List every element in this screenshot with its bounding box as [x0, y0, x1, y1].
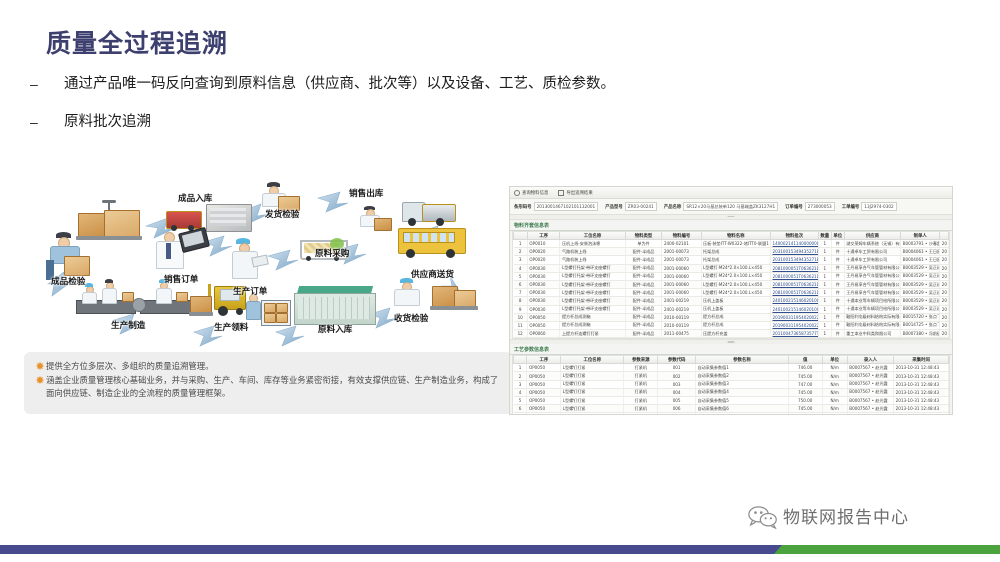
table-cell: 003	[658, 380, 696, 388]
table-cell: 压板·装垫ITT-W0322-堵ITT0-联盟1	[701, 240, 770, 248]
table-cell: 8	[514, 297, 528, 305]
cell-link[interactable]: 2081000051T063621D0	[772, 266, 818, 271]
table-cell: 750.00	[788, 397, 822, 405]
table-cell: 提方杆总成	[701, 313, 770, 321]
table-cell: L型螺钉托架·带环支座螺钉	[560, 272, 625, 280]
table-cell: 件	[831, 313, 844, 321]
table-cell: 压机上线-安装泡沫棉	[560, 240, 625, 248]
table-cell: OP0050	[527, 397, 561, 405]
table-cell: 2401002151460201004	[770, 305, 818, 313]
table-cell: 件	[831, 256, 844, 264]
table-cell: B0004061 • 王日昌	[901, 248, 940, 256]
column-header[interactable]: 单位	[831, 232, 844, 240]
table-cell: OP0050	[527, 313, 560, 321]
query-material-label: 查询物料信息	[522, 190, 548, 196]
field-order-no[interactable]: 订单编号 273000053	[785, 202, 835, 210]
table-cell: B0003529 • 吴正初	[901, 289, 940, 297]
table-cell: 提方杆总成	[701, 321, 770, 329]
table-cell: 打紧机	[624, 397, 658, 405]
table-cell: 1	[818, 289, 831, 297]
table-cell: B0003529 • 吴正初	[901, 297, 940, 305]
table-cell: B0003529 • 吴正初	[901, 305, 940, 313]
note-text: 提供全方位多层次、多组织的质量追溯管理。	[46, 360, 214, 373]
table-cell: 单为件	[625, 240, 662, 248]
table-row[interactable]: 6OP0030L型螺钉托架·带环支座螺钉配件·半成品2001-00060L型螺钉…	[514, 280, 949, 288]
field-value[interactable]: 13J2974-0302	[861, 202, 896, 210]
table-cell: OP0050	[527, 388, 561, 396]
table-cell: 打紧机	[624, 380, 658, 388]
page-title: 质量全过程追溯	[46, 24, 228, 60]
table-row[interactable]: 11OP0050提方杆总成测箱配件·半成品2010-00119提方杆总成2019…	[514, 321, 949, 329]
table-cell: 140002141140000000003	[770, 240, 818, 248]
table-cell: 件	[831, 297, 844, 305]
table-cell: 鞍阳利屯级材料结构实际有限公司	[844, 321, 900, 329]
table-cell: B0007380 • 冯前征	[901, 330, 940, 338]
table-cell: 气路机装上线	[560, 256, 625, 264]
table-cell: B0007567 • 赵光霞	[847, 413, 893, 415]
table-cell: L型螺钉打紧	[561, 388, 624, 396]
table-cell: L型螺钉·M24*2.0×100.L×450	[701, 272, 770, 280]
table-cell: L型螺钉打紧	[561, 364, 624, 372]
diagram-label: 供应商送货	[411, 268, 454, 280]
column-header[interactable]	[940, 232, 949, 240]
table-row[interactable]: 4OP0050L型螺钉打紧打紧机004自动采集参数值4745.00N/mB000…	[514, 388, 949, 396]
table-cell: 压提方杆充盖	[701, 330, 770, 338]
table-row[interactable]: 7OP0050L型螺钉打紧打紧机007自动采集参数值7747.00N/mB000…	[514, 413, 949, 415]
table-cell: 745.00	[788, 405, 822, 413]
cell-link[interactable]: 20190031195402002201	[772, 315, 818, 320]
column-header[interactable]: 单位	[822, 356, 847, 364]
list-item: ✸ 提供全方位多层次、多组织的质量追溯管理。	[24, 352, 512, 374]
panel-splitter[interactable]	[510, 215, 952, 220]
table-cell: B0004061 • 王日昌	[901, 256, 940, 264]
table-cell: 20	[940, 321, 949, 329]
table-cell: 11	[514, 321, 528, 329]
table-cell: 1	[514, 364, 527, 372]
table-cell: 1	[818, 313, 831, 321]
table-row[interactable]: 3OP0020气路机装上线配件·半成品2001-00073托架总成2031001…	[514, 256, 949, 264]
table-cell: B0007567 • 赵光霞	[847, 380, 893, 388]
table-cell: OP0060	[527, 330, 560, 338]
table-cell: N/m	[822, 372, 847, 380]
table-cell: OP0050	[527, 380, 561, 388]
diagram-label: 生产领料	[214, 321, 248, 333]
table-cell: 745.00	[788, 388, 822, 396]
table-cell: 7	[514, 413, 527, 415]
table-cell: 2001-00073	[662, 256, 701, 264]
cell-link[interactable]: 20190031195402002201	[772, 323, 818, 328]
process-parameter-section-title: 工艺参数信息表	[510, 344, 952, 355]
table-cell: OP0030	[527, 264, 560, 272]
table-cell: 6	[514, 280, 528, 288]
table-cell: 004	[658, 388, 696, 396]
table-cell: L型螺钉·M24*2.0×100.L×450	[701, 264, 770, 272]
column-header[interactable]: 物料批次	[770, 232, 818, 240]
table-cell: 10	[514, 313, 528, 321]
material-kitting-table: 工序工位名称物料类型物料编号物料名称物料批次数量单位供应商制单人 1OP0010…	[513, 232, 949, 338]
table-cell: OP0050	[527, 413, 561, 415]
cell-link[interactable]: 2081000051T063621D0	[772, 290, 818, 295]
table-cell: 湖交莱姆车辆系统（无锡）有限公司	[844, 240, 900, 248]
table-cell: 重工本业中科类和限公司	[844, 330, 900, 338]
table-cell: OP0050	[527, 321, 560, 329]
material-kitting-grid-wrap: 工序工位名称物料类型物料编号物料名称物料批次数量单位供应商制单人 1OP0010…	[512, 231, 950, 339]
field-product-model[interactable]: 产品型号 ZR03-00241	[605, 202, 657, 210]
table-row[interactable]: 2OP0050L型螺钉打紧打紧机002自动采集参数值2745.00N/mB000…	[514, 372, 949, 380]
table-cell: 十通本业等车辆项目给所限公司	[844, 297, 900, 305]
table-cell: 20	[940, 256, 949, 264]
table-cell: N/m	[822, 397, 847, 405]
table-cell: 2401002151460201004	[770, 297, 818, 305]
table-cell: 王丹易享合气车管管材有限公司	[844, 264, 900, 272]
table-cell: 747.00	[788, 413, 822, 415]
cell-link[interactable]: 2401002151460201004	[772, 298, 818, 303]
table-cell: 压机上盖板	[701, 297, 770, 305]
diagram-label: 生产制造	[111, 319, 145, 331]
table-cell: 配件·半成品	[625, 321, 662, 329]
table-cell: 1	[818, 272, 831, 280]
table-cell: L型螺钉打紧	[561, 380, 624, 388]
table-cell: 3	[514, 380, 527, 388]
table-cell: L型螺钉打紧	[561, 405, 624, 413]
table-cell: 件	[831, 280, 844, 288]
table-header-row: 工序工位名称参数来源参数代码参数名称值单位录入人采集时间	[514, 356, 949, 364]
table-cell: N/m	[822, 380, 847, 388]
table-cell: 配件·半成品	[625, 248, 662, 256]
field-label: 工单编号	[842, 204, 860, 210]
table-cell: 2081000051T063621D0	[770, 280, 818, 288]
table-row[interactable]: 12OP0060上提方杆连螺钉打紧配件·半成品2011-00475压提方杆充盖2…	[514, 330, 949, 338]
table-cell: 压机上盖板	[701, 305, 770, 313]
table-cell: 打紧机	[624, 413, 658, 415]
table-cell: 托架总成	[701, 248, 770, 256]
field-product-name[interactable]: 产品名称 SR12×20马基总装单120 马基端盖ZK3127H1	[664, 202, 778, 210]
table-cell: 件	[831, 248, 844, 256]
field-value[interactable]: 273000053	[805, 202, 835, 210]
table-cell: 20	[940, 248, 949, 256]
table-cell: 2401-00219	[662, 305, 701, 313]
watermark: 物联网报告中心	[748, 503, 909, 528]
table-cell: N/m	[822, 364, 847, 372]
process-parameter-grid-wrap: 工序工位名称参数来源参数代码参数名称值单位录入人采集时间 1OP0050L型螺钉…	[512, 355, 950, 415]
table-cell: 20	[940, 264, 949, 272]
column-header[interactable]: 供应商	[844, 232, 900, 240]
table-row[interactable]: 5OP0050L型螺钉打紧打紧机005自动采集参数值5750.00N/mB000…	[514, 397, 949, 405]
process-parameter-table: 工序工位名称参数来源参数代码参数名称值单位录入人采集时间 1OP0050L型螺钉…	[513, 356, 949, 415]
table-cell: B0014725 • 张点飞1	[901, 321, 940, 329]
table-cell: 2	[514, 248, 528, 256]
horizontal-scrollbar[interactable]	[510, 339, 952, 344]
table-cell: B0007567 • 赵光霞	[847, 372, 893, 380]
bullet-text: 原料批次追溯	[64, 112, 151, 132]
column-header[interactable]	[514, 356, 527, 364]
table-row[interactable]: 9OP0030L型螺钉托架·带环支座螺钉配件·半成品2401-00219压机上盖…	[514, 305, 949, 313]
column-header[interactable]: 参数来源	[624, 356, 658, 364]
table-cell: 鞍阳利屯级材料结构实际有限公司	[844, 313, 900, 321]
table-cell: 3	[514, 256, 528, 264]
table-cell: 4	[514, 264, 528, 272]
column-header[interactable]: 工位名称	[561, 356, 624, 364]
table-cell: 20	[940, 289, 949, 297]
table-cell: 1	[818, 264, 831, 272]
table-cell: 王丹易享合气车管管材有限公司	[844, 280, 900, 288]
table-cell: 自动采集参数值6	[696, 405, 789, 413]
table-cell: 1	[818, 297, 831, 305]
field-value[interactable]: ZR03-00241	[625, 202, 657, 210]
table-cell: 托架总成	[701, 256, 770, 264]
export-result-label: 导出追溯结果	[566, 190, 592, 196]
table-cell: 自动采集参数值4	[696, 388, 789, 396]
table-cell: 2013-10-31 12:48:43	[894, 380, 949, 388]
search-icon	[514, 190, 520, 196]
table-cell: L型螺钉打紧	[561, 397, 624, 405]
table-cell: 2001-00060	[662, 280, 701, 288]
table-cell: 1	[818, 248, 831, 256]
table-cell: 746.00	[788, 364, 822, 372]
table-cell: 2001-00073	[662, 248, 701, 256]
summary-note-box: ✸ 提供全方位多层次、多组织的质量追溯管理。 ✸ 涵盖企业质量管理核心基础业务，…	[24, 352, 512, 414]
cell-link[interactable]: 20310015349435271B	[772, 257, 818, 262]
column-header[interactable]: 参数名称	[696, 356, 789, 364]
table-cell: OP0020	[527, 248, 560, 256]
table-cell: B0007567 • 赵光霞	[847, 405, 893, 413]
table-cell: 配件·半成品	[625, 272, 662, 280]
table-row[interactable]: 6OP0050L型螺钉打紧打紧机006自动采集参数值6745.00N/mB000…	[514, 405, 949, 413]
watermark-text: 物联网报告中心	[783, 503, 909, 528]
table-cell: 5	[514, 272, 528, 280]
cell-link[interactable]: 20310015349435271B	[772, 249, 818, 254]
table-cell: 20	[940, 240, 949, 248]
bullet-dash: –	[30, 74, 64, 94]
table-cell: OP0030	[527, 280, 560, 288]
table-cell: 件	[831, 264, 844, 272]
table-row[interactable]: 8OP0030L型螺钉托架·带环支座螺钉配件·半成品2401-00219压机上盖…	[514, 297, 949, 305]
table-cell: 2001-00060	[662, 264, 701, 272]
footer-bar-purple	[0, 545, 775, 554]
table-cell: 1	[818, 321, 831, 329]
supplier-delivery-icon	[396, 222, 474, 266]
field-label: 订单编号	[785, 204, 803, 210]
table-row[interactable]: 5OP0030L型螺钉托架·带环支座螺钉配件·半成品2001-00060L型螺钉…	[514, 272, 949, 280]
table-cell: 王丹易享合气车管管材有限公司	[844, 272, 900, 280]
field-value[interactable]: SR12×20马基总装单120 马基端盖ZK3127H1	[683, 202, 778, 210]
bullet-list: – 通过产品唯一码反向查询到原料信息（供应商、批次等）以及设备、工艺、质检参数。…	[30, 74, 750, 150]
table-cell: 件	[831, 240, 844, 248]
list-item: – 原料批次追溯	[30, 112, 750, 132]
table-cell: B0003791 • 沙春霞	[901, 240, 940, 248]
diagram-label: 生产订单	[233, 285, 267, 297]
table-cell: 配件·半成品	[625, 297, 662, 305]
table-row[interactable]: 10OP0050提方杆总成测箱配件·半成品2010-00119提方杆总成2019…	[514, 313, 949, 321]
table-cell: 2013-10-31 12:48:43	[894, 372, 949, 380]
table-cell: 自动采集参数值3	[696, 380, 789, 388]
table-cell: 20	[940, 313, 949, 321]
table-cell: 2013-10-31 12:48:43	[894, 405, 949, 413]
table-cell: 自动采集参数值2	[696, 372, 789, 380]
table-cell: 1	[818, 305, 831, 313]
column-header[interactable]: 采集时间	[894, 356, 949, 364]
table-cell: 2013-10-31 12:48:43	[894, 397, 949, 405]
table-cell: 配件·半成品	[625, 289, 662, 297]
table-cell: 20	[940, 330, 949, 338]
cell-link[interactable]: 2081000051T063621D0	[772, 282, 818, 287]
table-cell: B0007567 • 赵光霞	[847, 397, 893, 405]
field-label: 条形码号	[514, 204, 532, 210]
table-row[interactable]: 1OP0050L型螺钉打紧打紧机001自动采集参数值1746.00N/mB000…	[514, 364, 949, 372]
erp-filter-fields: 条形码号 2013001467102101132001 产品型号 ZR03-00…	[510, 199, 952, 215]
table-cell: 6	[514, 405, 527, 413]
table-cell: 十通卓车工贸有限公司	[844, 256, 900, 264]
table-cell: 自动采集参数值5	[696, 397, 789, 405]
cell-link[interactable]: 140002141140000000003	[772, 241, 818, 246]
table-cell: OP0020	[527, 256, 560, 264]
table-cell: 上提方杆连螺钉打紧	[560, 330, 625, 338]
column-header[interactable]: 录入人	[847, 356, 893, 364]
table-cell: N/m	[822, 388, 847, 396]
column-header[interactable]: 制单人	[901, 232, 940, 240]
table-cell: 件	[831, 330, 844, 338]
diagram-label: 销售订单	[164, 273, 198, 285]
table-cell: 005	[658, 397, 696, 405]
field-label: 产品名称	[664, 204, 682, 210]
table-cell: OP0010	[527, 240, 560, 248]
export-result-button[interactable]: 导出追溯结果	[558, 190, 592, 196]
table-cell: OP0050	[527, 372, 561, 380]
table-cell: 747.00	[788, 380, 822, 388]
column-header[interactable]	[514, 232, 528, 240]
column-header[interactable]: 工序	[527, 356, 561, 364]
cell-link[interactable]: 2401002151460201004	[772, 307, 818, 312]
field-label: 产品型号	[605, 204, 623, 210]
table-cell: 2013-10-31 12:48:43	[894, 364, 949, 372]
footer-bar-green	[782, 545, 1000, 554]
table-cell: 自动采集参数值7	[696, 413, 789, 415]
table-cell: 1	[514, 240, 528, 248]
column-header[interactable]: 物料类型	[625, 232, 662, 240]
query-material-button[interactable]: 查询物料信息	[514, 190, 548, 196]
diagram-label: 成品入库	[178, 192, 212, 204]
table-cell: B0007567 • 赵光霞	[847, 388, 893, 396]
table-cell: L型螺钉托架·带环支座螺钉	[560, 297, 625, 305]
cell-link[interactable]: 2081000051T063621D0	[772, 274, 818, 279]
note-text: 涵盖企业质量管理核心基础业务，并与采购、生产、车间、库存等业务紧密衔接，有效支撑…	[46, 374, 502, 400]
table-cell: 件	[831, 305, 844, 313]
table-cell: L型螺钉·M24*2.0×100.L×450	[701, 280, 770, 288]
table-cell: 气路机装上线	[560, 248, 625, 256]
table-cell: 2081000051T063621D0	[770, 264, 818, 272]
table-cell: 配件·半成品	[625, 264, 662, 272]
table-cell: 配件·半成品	[625, 280, 662, 288]
cell-link[interactable]: 20110047365873577T0	[772, 331, 818, 336]
table-cell: L型螺钉打紧	[561, 413, 624, 415]
table-cell: 20	[940, 272, 949, 280]
table-cell: L型螺钉打紧	[561, 372, 624, 380]
diagram-label: 成品检验	[51, 275, 85, 287]
table-row[interactable]: 1OP0010压机上线-安装泡沫棉单为件2400-02101压板·装垫ITT-W…	[514, 240, 949, 248]
table-cell: 20190031195402002201	[770, 313, 818, 321]
table-cell: 十通卓车工贸有限公司	[844, 248, 900, 256]
table-cell: 2013-10-31 12:48:43	[894, 413, 949, 415]
table-cell: 2081000051T063621D0	[770, 289, 818, 297]
receiving-inspection-icon	[388, 278, 484, 316]
table-cell: N/m	[822, 413, 847, 415]
diagram-label: 发货检验	[265, 208, 299, 220]
column-header[interactable]: 工位名称	[560, 232, 625, 240]
table-cell: 配件·半成品	[625, 256, 662, 264]
table-cell: 1	[818, 330, 831, 338]
table-cell: 2013-10-31 12:48:43	[894, 388, 949, 396]
table-cell: 1	[818, 240, 831, 248]
note-bullet-icon: ✸	[34, 374, 46, 388]
diagram-label: 销售出库	[349, 187, 383, 199]
table-cell: L型螺钉托架·带环支座螺钉	[560, 264, 625, 272]
table-cell: 20	[940, 305, 949, 313]
column-header[interactable]: 物料编号	[662, 232, 701, 240]
table-row[interactable]: 4OP0030L型螺钉托架·带环支座螺钉配件·半成品2001-00060L型螺钉…	[514, 264, 949, 272]
table-cell: 20190031195402002201	[770, 321, 818, 329]
table-cell: 20310015349435271B	[770, 248, 818, 256]
table-cell: 配件·半成品	[625, 313, 662, 321]
table-cell: OP0030	[527, 272, 560, 280]
table-cell: OP0030	[527, 289, 560, 297]
table-cell: 2001-00060	[662, 289, 701, 297]
field-value[interactable]: 2013001467102101132001	[534, 202, 599, 210]
column-header[interactable]: 值	[788, 356, 822, 364]
table-row[interactable]: 3OP0050L型螺钉打紧打紧机003自动采集参数值3747.00N/mB000…	[514, 380, 949, 388]
table-cell: 2010-00119	[662, 313, 701, 321]
diagram-label: 原料入库	[318, 323, 352, 335]
table-cell: 9	[514, 305, 528, 313]
table-row[interactable]: 2OP0020气路机装上线配件·半成品2001-00073托架总成2031001…	[514, 248, 949, 256]
table-cell: 王丹易享合气车管管材有限公司	[844, 289, 900, 297]
table-cell: B0007567 • 赵光霞	[847, 364, 893, 372]
table-cell: L型螺钉托架·带环支座螺钉	[560, 280, 625, 288]
column-header[interactable]: 数量	[818, 232, 831, 240]
column-header[interactable]: 物料名称	[701, 232, 770, 240]
diagram-label: 收货检验	[394, 312, 428, 324]
table-cell: 件	[831, 272, 844, 280]
table-cell: 2400-02101	[662, 240, 701, 248]
table-cell: B0015720 • 张点飞1	[901, 313, 940, 321]
list-item: – 通过产品唯一码反向查询到原料信息（供应商、批次等）以及设备、工艺、质检参数。	[30, 74, 750, 94]
table-cell: 745.00	[788, 372, 822, 380]
table-cell: L型螺钉托架·带环支座螺钉	[560, 305, 625, 313]
slide: 质量全过程追溯 – 通过产品唯一码反向查询到原料信息（供应商、批次等）以及设备、…	[0, 0, 1000, 562]
table-cell: N/m	[822, 405, 847, 413]
table-row[interactable]: 7OP0030L型螺钉托架·带环支座螺钉配件·半成品2001-00060L型螺钉…	[514, 289, 949, 297]
erp-toolbar: 查询物料信息 导出追溯结果	[510, 187, 952, 199]
table-cell: 2001-00060	[662, 272, 701, 280]
table-cell: 2081000051T063621D0	[770, 272, 818, 280]
column-header[interactable]: 工序	[527, 232, 560, 240]
table-cell: 自动采集参数值1	[696, 364, 789, 372]
table-cell: 7	[514, 289, 528, 297]
production-order-icon	[224, 238, 272, 284]
erp-traceability-screenshot: 查询物料信息 导出追溯结果 条形码号 201300146710210113200…	[509, 186, 953, 415]
table-cell: OP0050	[527, 405, 561, 413]
table-cell: 20	[940, 280, 949, 288]
table-cell: OP0030	[527, 297, 560, 305]
table-cell: OP0050	[527, 364, 561, 372]
field-work-order-no[interactable]: 工单编号 13J2974-0302	[842, 202, 897, 210]
table-cell: OP0030	[527, 305, 560, 313]
table-cell: 2	[514, 372, 527, 380]
table-cell: 4	[514, 388, 527, 396]
column-header[interactable]: 参数代码	[658, 356, 696, 364]
table-cell: 提方杆总成测箱	[560, 313, 625, 321]
table-cell: 打紧机	[624, 364, 658, 372]
field-barcode[interactable]: 条形码号 2013001467102101132001	[514, 202, 598, 210]
